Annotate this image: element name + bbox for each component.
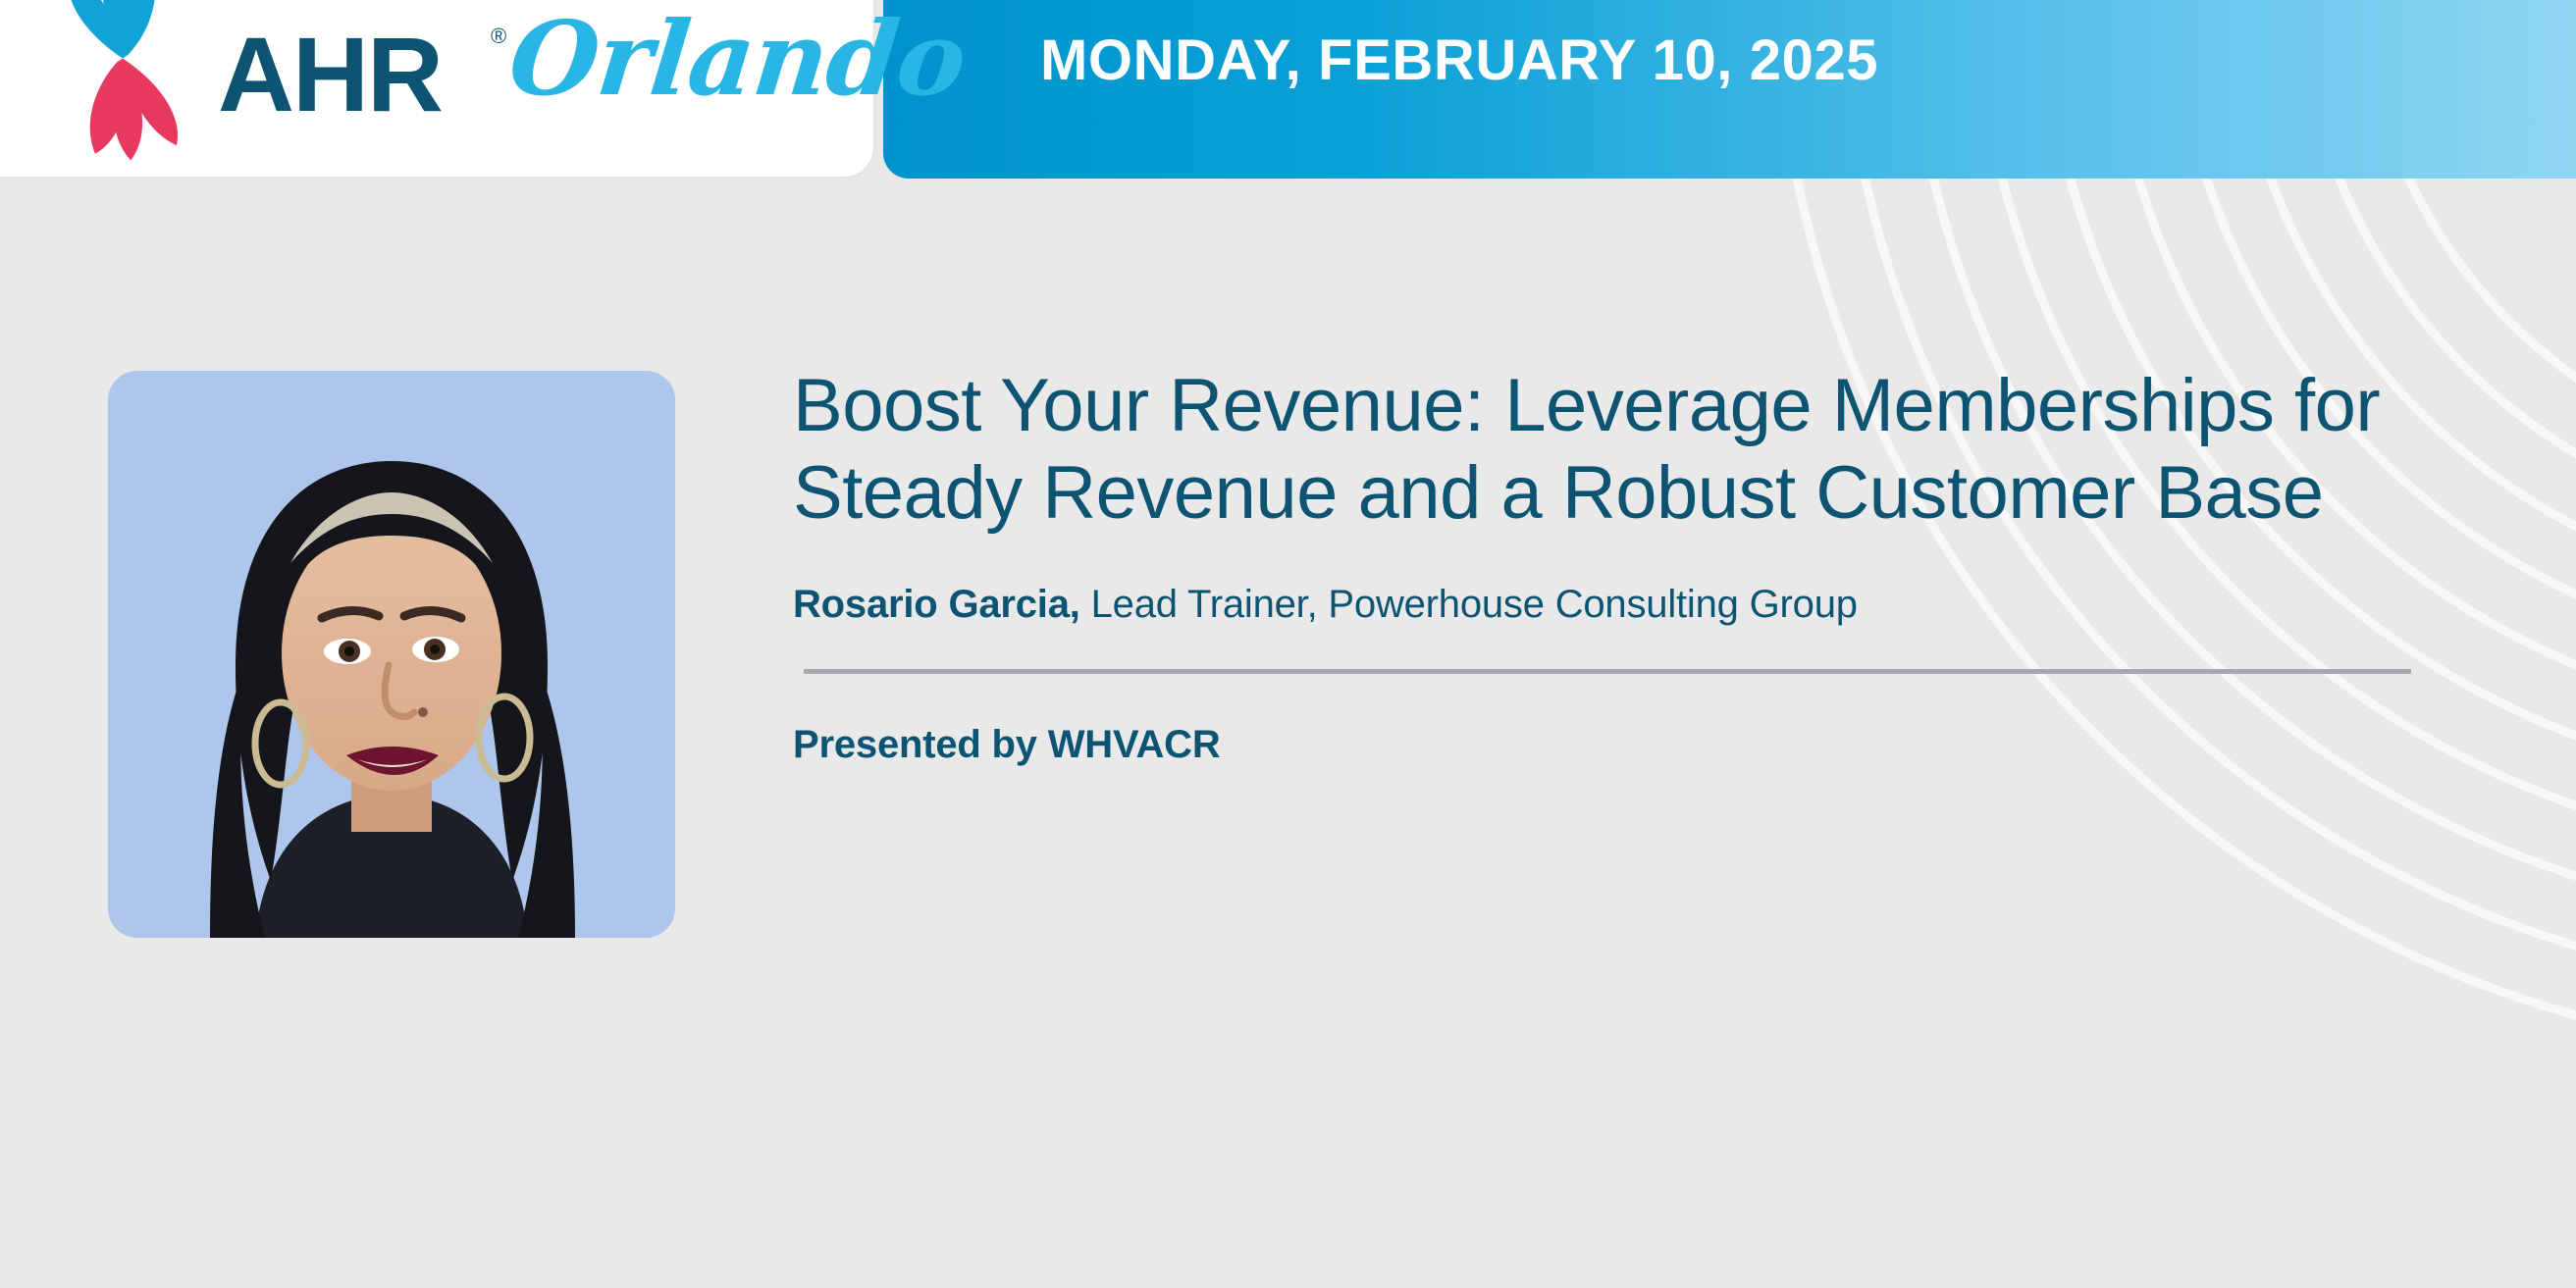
speaker-role: Lead Trainer, Powerhouse Consulting Grou…: [1091, 583, 1858, 626]
presented-by-label: Presented by WHVACR: [793, 723, 2422, 767]
event-date-banner: MONDAY, FEBRUARY 10, 2025: [883, 0, 2576, 179]
registered-trademark-icon: ®: [491, 24, 506, 49]
speaker-credit: Rosario Garcia, Lead Trainer, Powerhouse…: [793, 581, 2422, 628]
session-promo-card: MONDAY, FEBRUARY 10, 2025: [0, 0, 2576, 1288]
ahr-logo-panel: AHR ® Orlando: [0, 0, 873, 177]
speaker-name: Rosario Garcia,: [793, 583, 1080, 626]
event-date-text: MONDAY, FEBRUARY 10, 2025: [1040, 32, 1878, 89]
pinwheel-logo-icon: [10, 0, 236, 164]
ahr-wordmark: AHR: [218, 22, 442, 128]
session-title: Boost Your Revenue: Leverage Memberships…: [793, 363, 2422, 538]
ahr-logo: AHR ® Orlando: [0, 0, 873, 177]
session-content: Boost Your Revenue: Leverage Memberships…: [793, 363, 2422, 767]
orlando-script-wordmark: Orlando: [505, 8, 971, 110]
section-divider: [804, 669, 2411, 674]
speaker-headshot-photo: [108, 371, 675, 938]
